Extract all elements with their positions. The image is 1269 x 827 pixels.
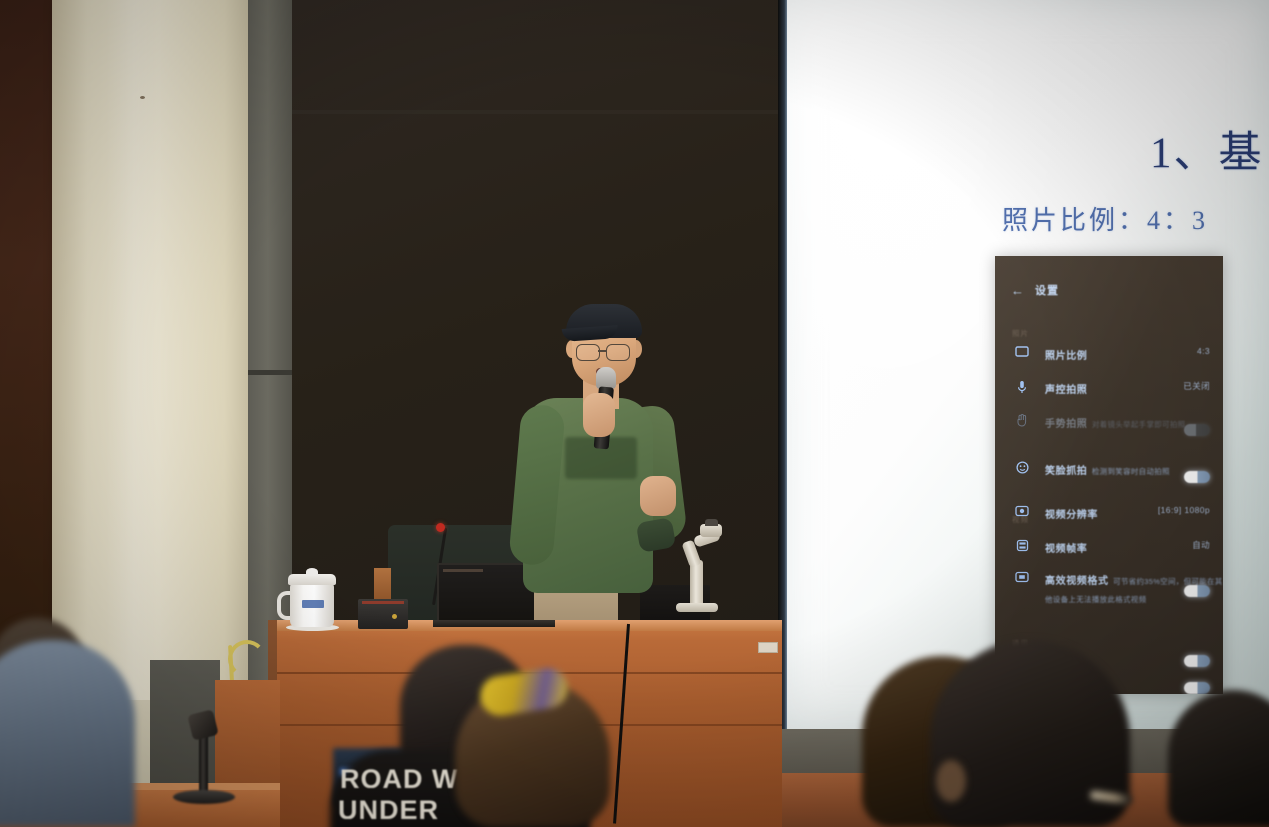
setting-value: 4:3 xyxy=(1197,346,1210,356)
setting-label: 视频分辨率 xyxy=(1045,510,1098,521)
presenter-left-hand xyxy=(583,393,615,437)
mic-stand-pole xyxy=(199,732,208,794)
group-label-photo: 照片 xyxy=(1012,328,1029,339)
pillar-highlight xyxy=(105,0,163,700)
setting-label: 高效视频格式 xyxy=(1045,576,1109,587)
presenter-right-hand xyxy=(640,476,676,516)
laptop-bezel-label xyxy=(443,569,483,572)
slide-title: 1、基 xyxy=(1150,118,1264,180)
setting-description: 对着镜头举起手掌即可拍照 xyxy=(1092,420,1186,429)
setting-description: 检测到笑容时自动拍照 xyxy=(1092,467,1170,476)
frame-rate-icon xyxy=(1011,539,1033,552)
jacket-text-line2: UNDER xyxy=(338,795,468,819)
setting-row-smile-capture[interactable]: 笑脸抓拍 检测到笑容时自动拍照 xyxy=(995,461,1223,479)
left-brown-wall xyxy=(0,0,52,660)
settings-title: 设置 xyxy=(1035,282,1059,298)
toggle-gesture-capture[interactable] xyxy=(1184,424,1210,436)
photo-ratio-icon xyxy=(1011,346,1033,357)
toggle-smile-capture[interactable] xyxy=(1184,471,1210,483)
handheld-microphone-head xyxy=(596,367,616,389)
audience-ear xyxy=(936,760,966,802)
black-device-indicator xyxy=(392,614,397,619)
setting-row-video-resolution[interactable]: 视频分辨率 [16:9] 1080p xyxy=(995,505,1223,523)
settings-header: ← 设置 xyxy=(1011,282,1059,298)
setting-value: [16:9] 1080p xyxy=(1158,505,1210,515)
setting-label: 手势拍照 xyxy=(1045,419,1087,430)
gesture-hand-icon xyxy=(1011,414,1033,427)
setting-label: 视频帧率 xyxy=(1045,544,1087,555)
gray-wall-panel xyxy=(248,0,292,690)
gimbal-phone-clamp xyxy=(705,519,718,526)
glasses-lens-right xyxy=(606,344,630,361)
wooden-block xyxy=(374,568,391,602)
gray-panel-seam xyxy=(248,370,292,375)
setting-label: 声控拍照 xyxy=(1045,385,1087,396)
lecture-hall-photo: 1、基 照片比例：4：3 ← 设置 照片 照片比例 4:3 声控拍照 xyxy=(0,0,1269,827)
stage-front-wood-right xyxy=(215,680,280,790)
toggle-efficient-video[interactable] xyxy=(1184,585,1210,597)
phone-camera-settings-screenshot: ← 设置 照片 照片比例 4:3 声控拍照 已关闭 xyxy=(995,256,1223,694)
setting-value: 已关闭 xyxy=(1183,380,1210,392)
setting-row-gesture-capture[interactable]: 手势拍照 对着镜头举起手掌即可拍照 xyxy=(995,414,1223,432)
setting-label: 笑脸抓拍 xyxy=(1045,466,1087,477)
video-resolution-icon xyxy=(1011,505,1033,517)
gooseneck-mic-led xyxy=(436,523,445,532)
yellow-cable-loop xyxy=(228,640,266,678)
black-device-stripe xyxy=(362,601,404,604)
microphone-icon xyxy=(1011,380,1033,394)
setting-row-voice-capture[interactable]: 声控拍照 已关闭 xyxy=(995,380,1223,398)
setting-row-photo-ratio[interactable]: 照片比例 4:3 xyxy=(995,346,1223,364)
setting-row-frame-rate[interactable]: 视频帧率 自动 xyxy=(995,539,1223,557)
podium-label-plate xyxy=(758,642,778,653)
efficient-video-icon xyxy=(1011,571,1033,583)
glasses-bridge xyxy=(598,350,607,352)
glasses-lens-left xyxy=(576,344,600,361)
mic-stand-base xyxy=(173,790,235,804)
laptop-base xyxy=(433,620,555,627)
jacket-text-line1: ROAD W xyxy=(340,764,470,788)
tea-mug-logo xyxy=(302,600,324,608)
pillar-speck xyxy=(140,96,145,99)
setting-value: 自动 xyxy=(1192,539,1210,551)
setting-row-efficient-video[interactable]: 高效视频格式 可节省约35%空间，但可能在其他设备上无法播放此格式视频 xyxy=(995,571,1223,607)
setting-label: 照片比例 xyxy=(1045,351,1087,362)
smile-face-icon xyxy=(1011,461,1033,474)
slide-subtitle: 照片比例：4：3 xyxy=(1002,200,1208,237)
audience-left-person xyxy=(0,640,135,827)
tea-mug-lid-knob xyxy=(306,568,318,576)
stage-wall-seam xyxy=(292,110,782,114)
toggle-level[interactable] xyxy=(1184,682,1210,694)
toggle-grid-lines[interactable] xyxy=(1184,655,1210,667)
gimbal-base xyxy=(676,603,718,612)
back-arrow-icon[interactable]: ← xyxy=(1011,283,1024,298)
